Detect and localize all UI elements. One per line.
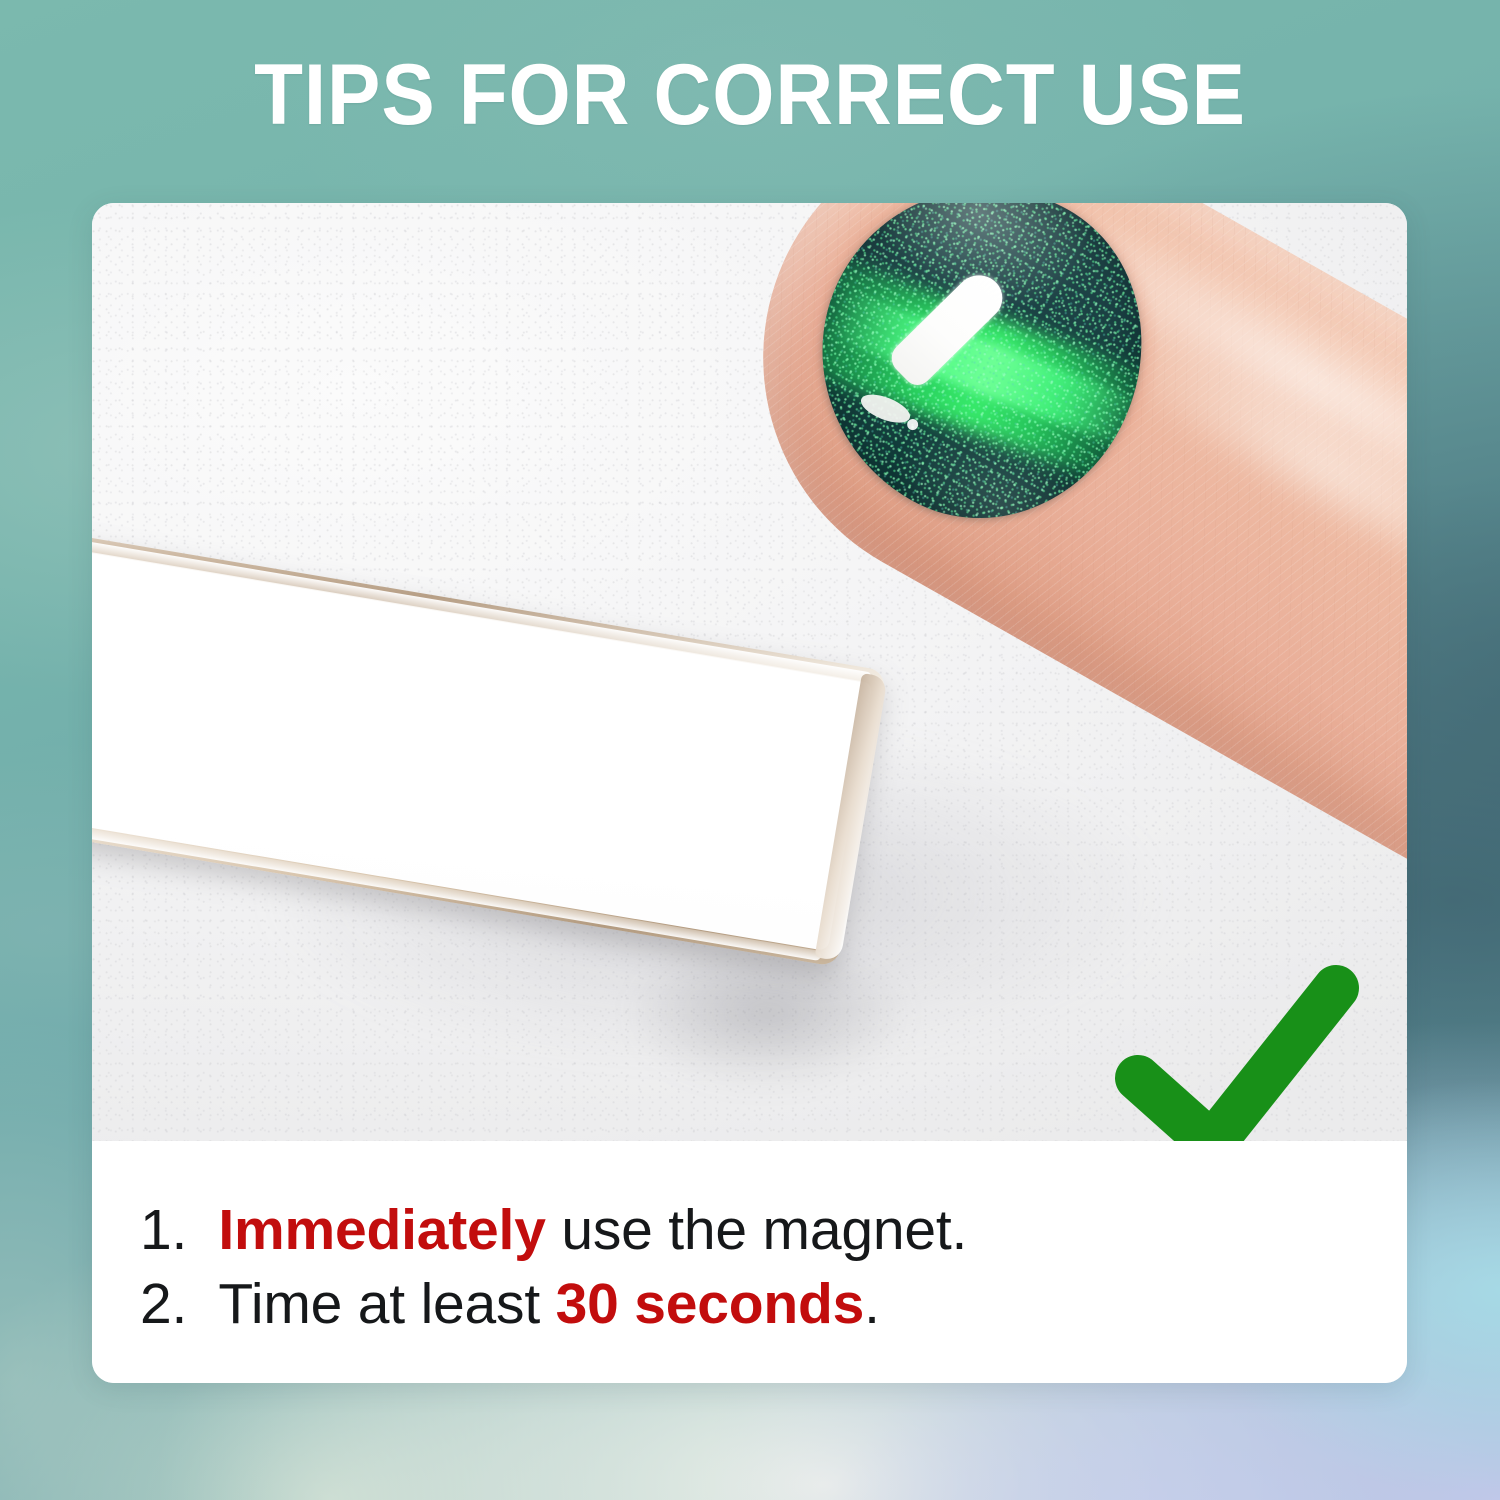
instruction-2-highlight: 30 seconds <box>556 1272 865 1336</box>
instruction-2-post: . <box>864 1272 880 1336</box>
instruction-list: 1. Immediately use the magnet. 2. Time a… <box>92 1141 1407 1383</box>
instruction-2-pre: Time at least <box>218 1272 555 1336</box>
instruction-photo <box>92 203 1407 1141</box>
magnet-cast-shadow <box>632 943 972 1141</box>
instruction-1-post: use the magnet. <box>546 1198 967 1262</box>
content-card: 1. Immediately use the magnet. 2. Time a… <box>92 203 1407 1383</box>
instruction-item-2: 2. Time at least 30 seconds. <box>140 1267 1407 1341</box>
check-mark-icon <box>1112 958 1362 1141</box>
page-title: TIPS FOR CORRECT USE <box>53 50 1448 140</box>
instruction-1-highlight: Immediately <box>218 1198 545 1262</box>
instruction-1-number: 1. <box>140 1198 187 1262</box>
infographic-page: TIPS FOR CORRECT USE <box>0 0 1500 1500</box>
instruction-2-number: 2. <box>140 1272 187 1336</box>
instruction-item-1: 1. Immediately use the magnet. <box>140 1193 1407 1267</box>
